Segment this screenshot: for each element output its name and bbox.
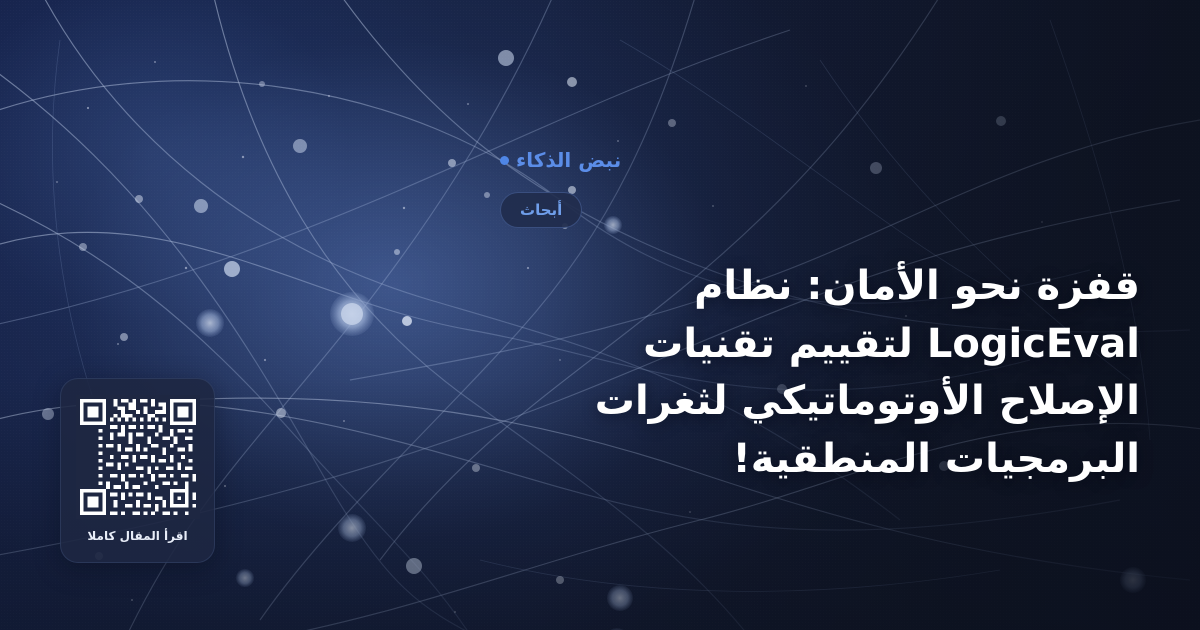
social-share-card: نبض الذكاء أبحاث قفزة نحو الأمان: نظام L…	[0, 0, 1200, 630]
title-line-1-before: قفزة نحو الأمان: نظام	[694, 263, 1140, 309]
content-column: نبض الذكاء أبحاث قفزة نحو الأمان: نظام L…	[500, 0, 1200, 630]
title-line-3: البرمجيات المنطقية!	[733, 436, 1140, 482]
category-badge: أبحاث	[500, 192, 582, 228]
category-badge-label: أبحاث	[520, 203, 562, 218]
brand-lockup: نبض الذكاء	[500, 150, 621, 170]
bullet-dot-icon	[500, 156, 509, 165]
title-line-1-latin: LogicEval	[927, 321, 1140, 367]
qr-code-image[interactable]	[76, 395, 200, 519]
qr-code-card[interactable]: اقرأ المقال كاملا	[60, 378, 215, 563]
brand-name: نبض الذكاء	[516, 150, 621, 170]
qr-caption: اقرأ المقال كاملا	[87, 530, 187, 542]
page-title: قفزة نحو الأمان: نظام LogicEval لتقييم ت…	[500, 258, 1140, 488]
title-line-1-after: لتقييم	[789, 321, 927, 367]
